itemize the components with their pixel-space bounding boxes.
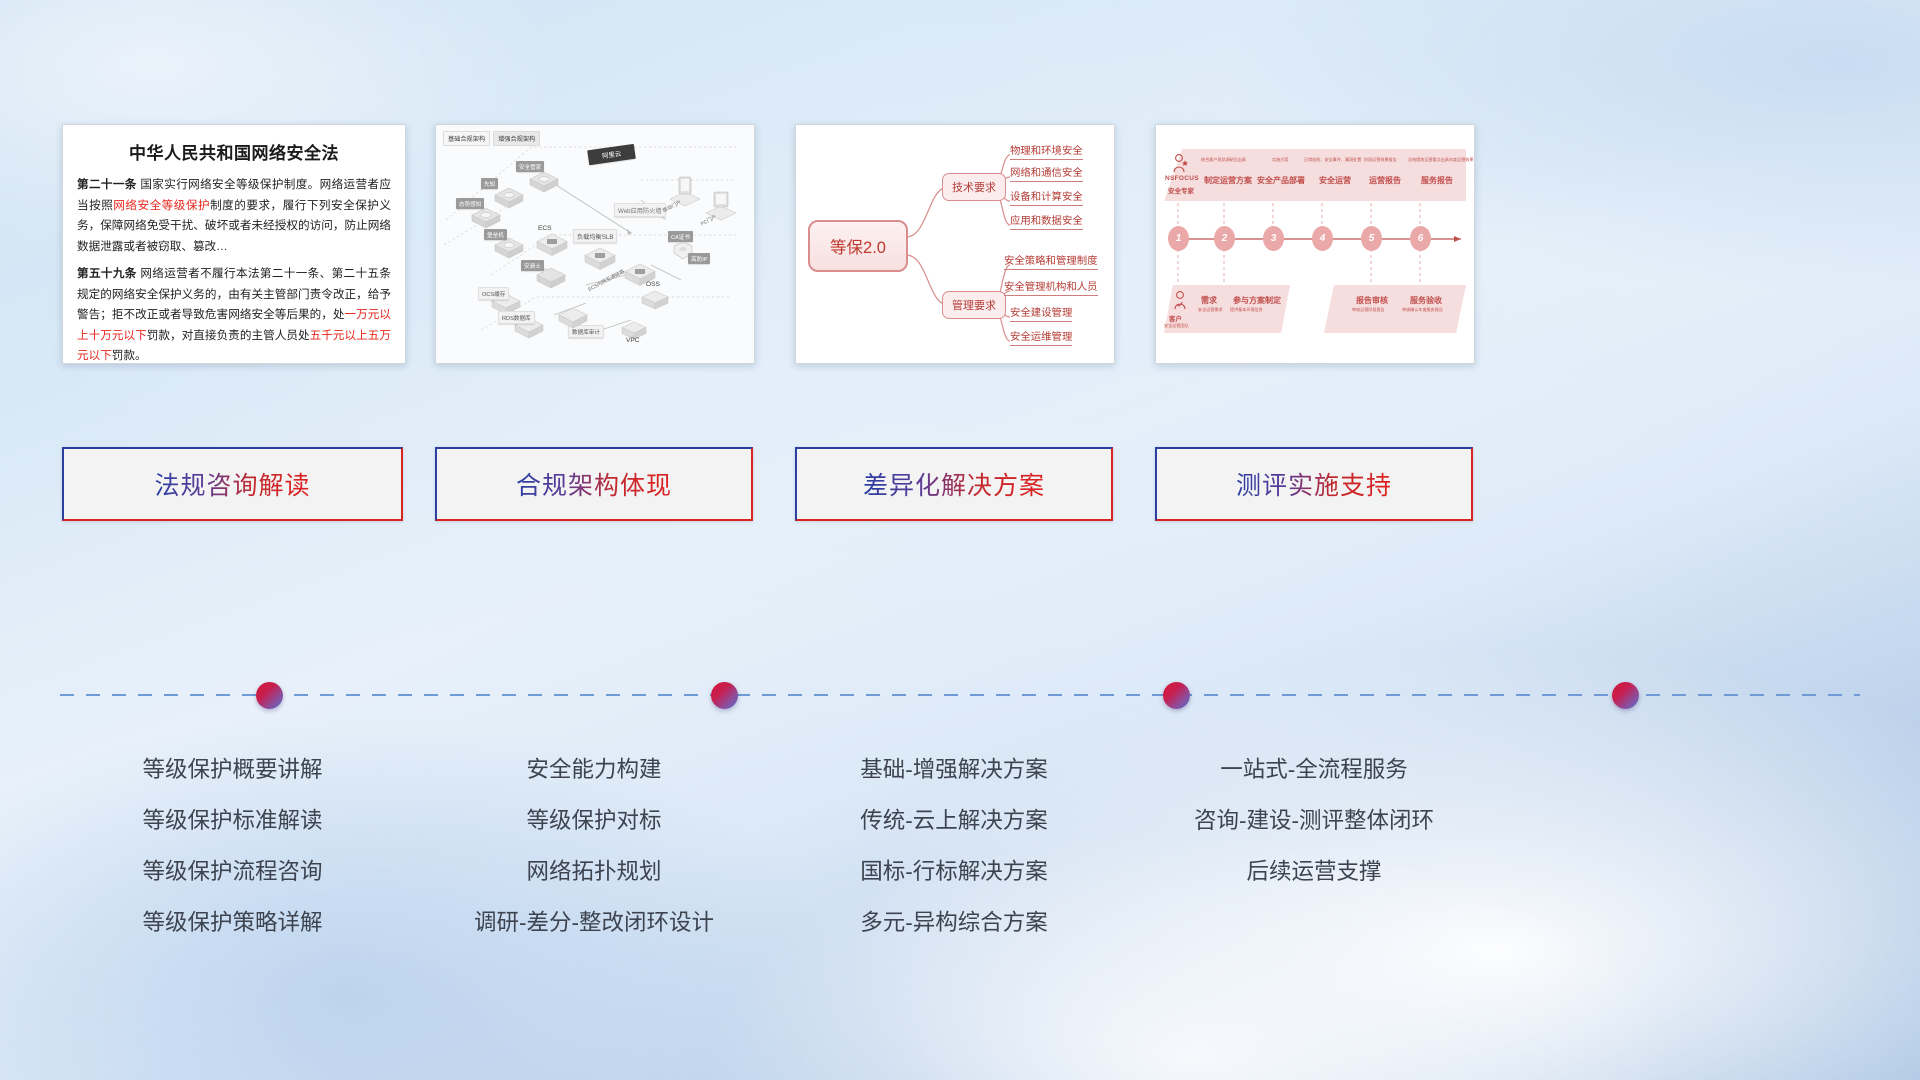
detail-list-1: 等级保护概要讲解 等级保护标准解读 等级保护流程咨询 等级保护策略详解 (62, 744, 403, 948)
law-article-21: 第二十一条 国家实行网络安全等级保护制度。网络运营者应当按照网络安全等级保护制度… (77, 175, 391, 257)
preview-cards-row: 中华人民共和国网络安全法 第二十一条 国家实行网络安全等级保护制度。网络运营者应… (0, 124, 1920, 364)
slide-stage: 中华人民共和国网络安全法 第二十一条 国家实行网络安全等级保护制度。网络运营者应… (0, 0, 1920, 1080)
pillar-1-label: 法规咨询解读 (154, 466, 310, 502)
node-label-anti-ddos: 高防IP (688, 253, 710, 264)
mindmap-root: 等保2.0 (808, 220, 908, 272)
law-title: 中华人民共和国网络安全法 (77, 139, 391, 164)
list-item: 传统-云上解决方案 (780, 795, 1128, 846)
track-dot-3 (1163, 682, 1190, 709)
pillar-regulation-consulting[interactable]: 法规咨询解读 (62, 447, 403, 521)
timeline-diagram: NSFOCUS 安全专家 结合客户现状调研后出具 制定运营方案 实施方案 安全产… (1156, 125, 1474, 363)
node-cube-ecs-2 (584, 247, 616, 276)
law-article-59-text-c: 罚款。 (112, 349, 147, 362)
node-label-vpc: VPC (626, 337, 640, 344)
node-cube-db-audit (558, 307, 588, 334)
list-item: 等级保护标准解读 (62, 795, 403, 846)
bottom-step-3-sub: 审核运营阶段报告 (1352, 307, 1385, 313)
node-label-prophet: 先知 (481, 178, 498, 189)
list-item: 安全能力构建 (420, 744, 768, 795)
track-dot-2 (711, 682, 738, 709)
timeline-dot-3: 3 (1263, 226, 1284, 251)
timeline-dot-5: 5 (1361, 226, 1382, 251)
timeline-dashed-track (60, 694, 1860, 696)
pillar-3-label: 差异化解决方案 (863, 466, 1045, 502)
pillar-2-label: 合规架构体现 (516, 466, 672, 502)
law-article-21-highlight: 网络安全等级保护 (113, 199, 210, 212)
mindmap-branch-management: 管理要求 (942, 291, 1006, 319)
list-item: 基础-增强解决方案 (780, 744, 1128, 795)
bottom-step-2-title: 参与方案制定 (1233, 295, 1281, 306)
timeline-dot-1: 1 (1168, 226, 1189, 251)
timeline-dot-4: 4 (1312, 226, 1333, 251)
node-label-situational-awareness: 态势感知 (456, 198, 484, 209)
card-service-timeline: NSFOCUS 安全专家 结合客户现状调研后出具 制定运营方案 实施方案 安全产… (1155, 124, 1475, 364)
node-label-waf: Web应用防火墙 (614, 203, 666, 217)
track-dot-1 (256, 682, 283, 709)
law-document: 中华人民共和国网络安全法 第二十一条 国家实行网络安全等级保护制度。网络运营者应… (63, 125, 405, 363)
mindmap-leaf-org-personnel: 安全管理机构和人员 (1004, 278, 1098, 296)
pillar-4-label: 测评实施支持 (1236, 466, 1392, 502)
track-dot-4 (1612, 682, 1639, 709)
pillar-assessment-support[interactable]: 测评实施支持 (1155, 447, 1473, 521)
list-item: 咨询-建设-测评整体闭环 (1140, 795, 1488, 846)
timeline-dot-2: 2 (1214, 226, 1235, 251)
bottom-step-3-title: 报告审核 (1356, 295, 1388, 306)
mindmap-leaf-ops-mgmt: 安全运维管理 (1010, 328, 1072, 346)
card-compliance-architecture: 基础合规架构 增强合规架构 (435, 124, 755, 364)
bottom-step-4-sub: 审核确认年度服务报告 (1402, 307, 1443, 313)
law-article-59-label: 第五十九条 (77, 267, 137, 280)
node-label-ocs-cache: OCS缓存 (478, 287, 509, 300)
list-item: 一站式-全流程服务 (1140, 744, 1488, 795)
mindmap-leaf-network-comm: 网络和通信安全 (1010, 164, 1083, 182)
node-label-ecs: ECS (538, 225, 552, 232)
node-label-slb: 负载均衡SLB (573, 229, 617, 243)
node-cube-agent (536, 267, 566, 294)
law-article-59: 第五十九条 网络运营者不履行本法第二十一条、第二十五条规定的网络安全保护义务的，… (77, 264, 391, 364)
mindmap-leaf-app-data: 应用和数据安全 (1010, 212, 1083, 230)
card-cybersecurity-law: 中华人民共和国网络安全法 第二十一条 国家实行网络安全等级保护制度。网络运营者应… (62, 124, 406, 364)
bottom-step-1-title: 需求 (1201, 295, 1217, 306)
node-cube-oss (641, 290, 669, 315)
list-item: 网络拓扑规划 (420, 846, 768, 897)
node-label-rds: RDS数据库 (498, 311, 535, 324)
law-article-59-text-b: 罚款，对直接负责的主管人员处 (147, 329, 310, 342)
card-dengbao-mindmap: 等保2.0 技术要求 管理要求 物理和环境安全 网络和通信安全 设备和计算安全 … (795, 124, 1115, 364)
node-label-security-steward: 安全管家 (516, 161, 544, 172)
mindmap-leaf-physical-env: 物理和环境安全 (1010, 142, 1083, 160)
customer-person-icon (1172, 290, 1189, 315)
pillar-titles-row: 法规咨询解读 合规架构体现 差异化解决方案 测评实施支持 (0, 447, 1920, 521)
detail-list-2: 安全能力构建 等级保护对标 网络拓扑规划 调研-差分-整改闭环设计 (420, 744, 768, 948)
list-item: 等级保护对标 (420, 795, 768, 846)
detail-list-4: 一站式-全流程服务 咨询-建设-测评整体闭环 后续运营支撑 (1140, 744, 1488, 897)
timeline-dot-6: 6 (1410, 226, 1431, 251)
node-label-oss: OSS (646, 281, 660, 288)
node-cube-ecs (536, 233, 568, 262)
bottom-step-4-title: 服务验收 (1410, 295, 1442, 306)
node-cube-prophet (494, 187, 524, 214)
customer-title: 客户 (1169, 313, 1182, 323)
node-cube-bastion (494, 237, 524, 264)
list-item: 调研-差分-整改闭环设计 (420, 897, 768, 948)
list-item: 等级保护流程咨询 (62, 846, 403, 897)
pillar-differentiated-solution[interactable]: 差异化解决方案 (795, 447, 1113, 521)
mindmap-leaf-policy-system: 安全策略和管理制度 (1004, 252, 1098, 270)
detail-list-3: 基础-增强解决方案 传统-云上解决方案 国标-行标解决方案 多元-异构综合方案 (780, 744, 1128, 948)
mindmap-diagram: 等保2.0 技术要求 管理要求 物理和环境安全 网络和通信安全 设备和计算安全 … (796, 125, 1114, 363)
mindmap-leaf-device-compute: 设备和计算安全 (1010, 188, 1083, 206)
list-item: 多元-异构综合方案 (780, 897, 1128, 948)
node-label-bastion-host: 堡垒机 (484, 229, 507, 240)
bottom-step-1-sub: 安全运营需求 (1198, 307, 1223, 313)
customer-subtitle: 安全运营团队 (1164, 323, 1189, 329)
list-item: 等级保护策略详解 (62, 897, 403, 948)
architecture-diagram: 基础合规架构 增强合规架构 (436, 125, 754, 363)
list-item: 后续运营支撑 (1140, 846, 1488, 897)
list-item: 国标-行标解决方案 (780, 846, 1128, 897)
law-article-21-label: 第二十一条 (77, 178, 137, 191)
pillar-compliance-architecture[interactable]: 合规架构体现 (435, 447, 753, 521)
list-item: 等级保护概要讲解 (62, 744, 403, 795)
mindmap-branch-technical: 技术要求 (942, 173, 1006, 201)
mindmap-leaf-construction-mgmt: 安全建设管理 (1010, 304, 1072, 322)
node-cube-security-steward (529, 171, 559, 198)
bottom-step-2-sub: 提供基本环境信息 (1230, 307, 1263, 313)
